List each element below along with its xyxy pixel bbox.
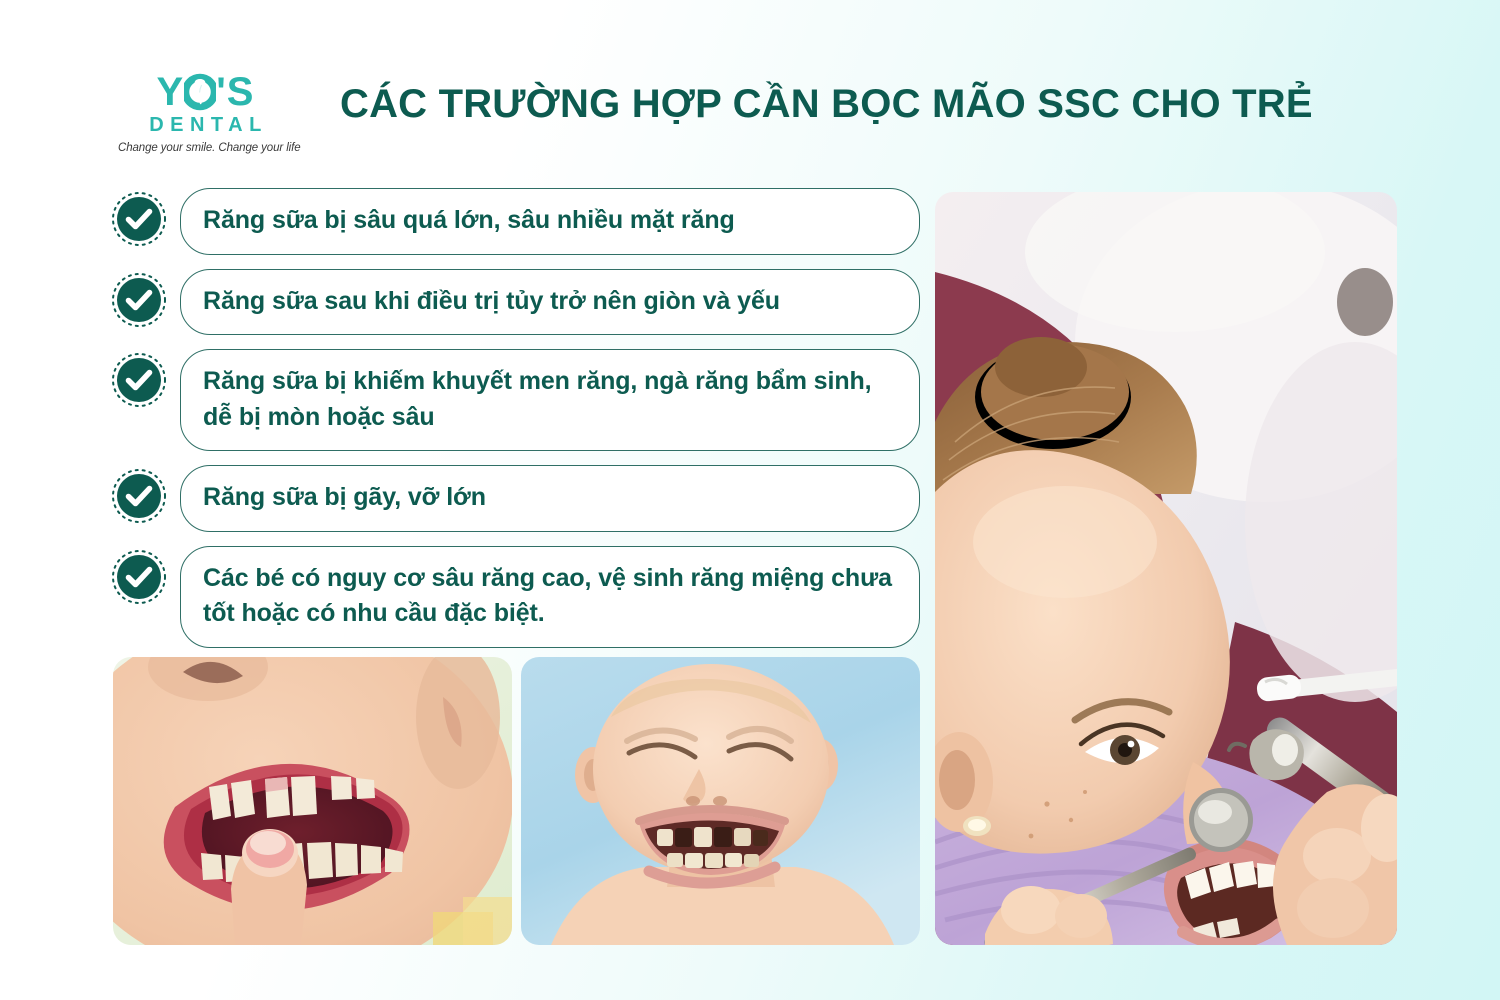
check-circle-icon [110,351,168,409]
condition-text: Răng sữa bị sâu quá lớn, sâu nhiều mặt r… [203,203,735,239]
condition-text: Răng sữa sau khi điều trị tủy trở nên gi… [203,284,780,320]
list-item: Răng sữa bị khiếm khuyết men răng, ngà r… [110,349,920,451]
condition-text: Các bé có nguy cơ sâu răng cao, vệ sinh … [203,561,897,632]
list-item: Răng sữa sau khi điều trị tủy trở nên gi… [110,269,920,336]
condition-text: Răng sữa bị khiếm khuyết men răng, ngà r… [203,364,897,435]
condition-card[interactable]: Răng sữa bị khiếm khuyết men răng, ngà r… [180,349,920,451]
check-circle-icon [110,271,168,329]
child-mouth-damaged-teeth-photo [113,657,512,945]
logo-tagline: Change your smile. Change your life [118,142,293,154]
logo-subtitle: DENTAL [118,114,293,137]
smiling-boy-decayed-teeth-photo [521,657,920,945]
condition-card[interactable]: Các bé có nguy cơ sâu răng cao, vệ sinh … [180,546,920,648]
list-item: Các bé có nguy cơ sâu răng cao, vệ sinh … [110,546,920,648]
tooth-icon [184,72,216,112]
girl-dental-chair-photo [935,192,1397,945]
condition-card[interactable]: Răng sữa bị sâu quá lớn, sâu nhiều mặt r… [180,188,920,255]
header: Y 'S DENTAL Change your smile. Change yo… [0,0,1500,175]
logo-tooth-o [184,72,216,112]
list-item: Răng sữa bị sâu quá lớn, sâu nhiều mặt r… [110,188,920,255]
condition-text: Răng sữa bị gãy, vỡ lớn [203,480,486,516]
condition-card[interactable]: Răng sữa sau khi điều trị tủy trở nên gi… [180,269,920,336]
page-title: CÁC TRƯỜNG HỢP CẦN BỌC MÃO SSC CHO TRẺ [340,82,1420,126]
check-circle-icon [110,467,168,525]
brand-logo[interactable]: Y 'S DENTAL Change your smile. Change yo… [118,72,293,154]
check-circle-icon [110,548,168,606]
condition-card[interactable]: Răng sữa bị gãy, vỡ lớn [180,465,920,532]
logo-wordmark: Y 'S [118,72,293,112]
logo-letter-y: Y [157,72,185,112]
logo-letters-s: 'S [216,72,254,112]
conditions-list: Răng sữa bị sâu quá lớn, sâu nhiều mặt r… [110,188,920,662]
list-item: Răng sữa bị gãy, vỡ lớn [110,465,920,532]
check-circle-icon [110,190,168,248]
